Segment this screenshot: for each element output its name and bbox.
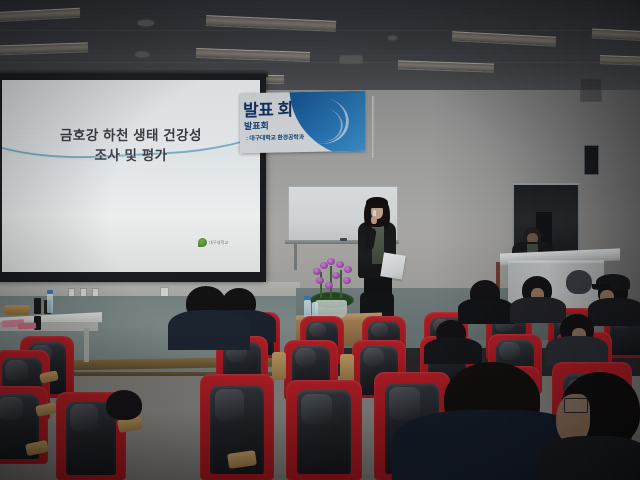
audience-shoulders (458, 298, 514, 324)
audience-shoulders (510, 297, 566, 323)
wall-panel (580, 78, 602, 102)
pink-paper (18, 323, 36, 330)
wall-speaker-icon (584, 145, 599, 175)
snack-items (4, 305, 30, 315)
ceiling-light-fixture (0, 8, 80, 21)
water-bottle (47, 293, 53, 313)
audience-shoulders (424, 338, 482, 364)
orchid-bloom (327, 258, 335, 265)
ceiling-light-fixture (196, 48, 310, 61)
banner-pole (372, 96, 375, 158)
slide-logo-text: 대구대학교 (209, 240, 228, 246)
seat-armrest (340, 354, 354, 382)
orchid-stem (340, 270, 342, 298)
orchid-bloom (325, 282, 333, 289)
audience-shoulders (588, 298, 640, 326)
ceiling-light-fixture (592, 28, 640, 40)
bottle-cap (304, 296, 311, 300)
ceiling-vent-icon (388, 36, 397, 40)
slide-title: 금호강 하천 생태 건강성 조사 및 평가 (2, 126, 260, 166)
cup-icon (34, 298, 41, 314)
whiteboard-leg (294, 244, 297, 270)
leaf-icon (198, 238, 207, 247)
presenter-hair-side (383, 203, 390, 229)
slide-title-line-2: 조사 및 평가 (2, 146, 260, 166)
ceiling-light-fixture (600, 55, 640, 65)
theatre-seat (286, 380, 362, 480)
seat-armrest (272, 352, 286, 380)
auditorium-photo: 금호강 하천 생태 건강성 조사 및 평가 대구대학교 발표 회 발표회 : 대… (0, 0, 640, 480)
orchid-bloom (332, 272, 340, 279)
orchid-bloom (344, 266, 352, 273)
orchid-bloom (313, 268, 321, 275)
presenter-hair-side (364, 203, 371, 227)
slide-title-line-1: 금호강 하천 생태 건강성 (2, 126, 260, 146)
ceiling-light-fixture (0, 42, 88, 54)
bottle-cap (47, 290, 53, 294)
orchid-bloom (316, 277, 324, 284)
eyeglasses-icon (564, 398, 588, 413)
presenter-papers (380, 252, 405, 279)
ceiling-speaker-icon (135, 52, 149, 57)
audience-head (566, 270, 592, 294)
slide-logo: 대구대학교 (198, 238, 228, 247)
ceiling-vent-icon (340, 56, 362, 63)
ceiling-light-fixture (452, 31, 556, 45)
orchid-stem (320, 272, 322, 298)
audience-shoulders-foreground (540, 436, 640, 480)
podium-edge (508, 260, 604, 263)
marker-icon (340, 238, 347, 241)
ceiling-speaker-icon (138, 20, 154, 26)
left-table-leg (84, 328, 89, 362)
projection-screen: 금호강 하천 생태 건강성 조사 및 평가 대구대학교 (2, 80, 260, 272)
ceiling-light-fixture (206, 15, 336, 31)
orchid-bloom (343, 277, 351, 284)
banner-shading (240, 91, 365, 154)
audience-head (106, 390, 142, 420)
audience-shoulders (168, 310, 250, 350)
orchid-bloom (336, 261, 344, 268)
presenter-hand (371, 216, 377, 224)
event-banner: 발표 회 발표회 : 대구대학교 환경공학과 (240, 91, 365, 154)
